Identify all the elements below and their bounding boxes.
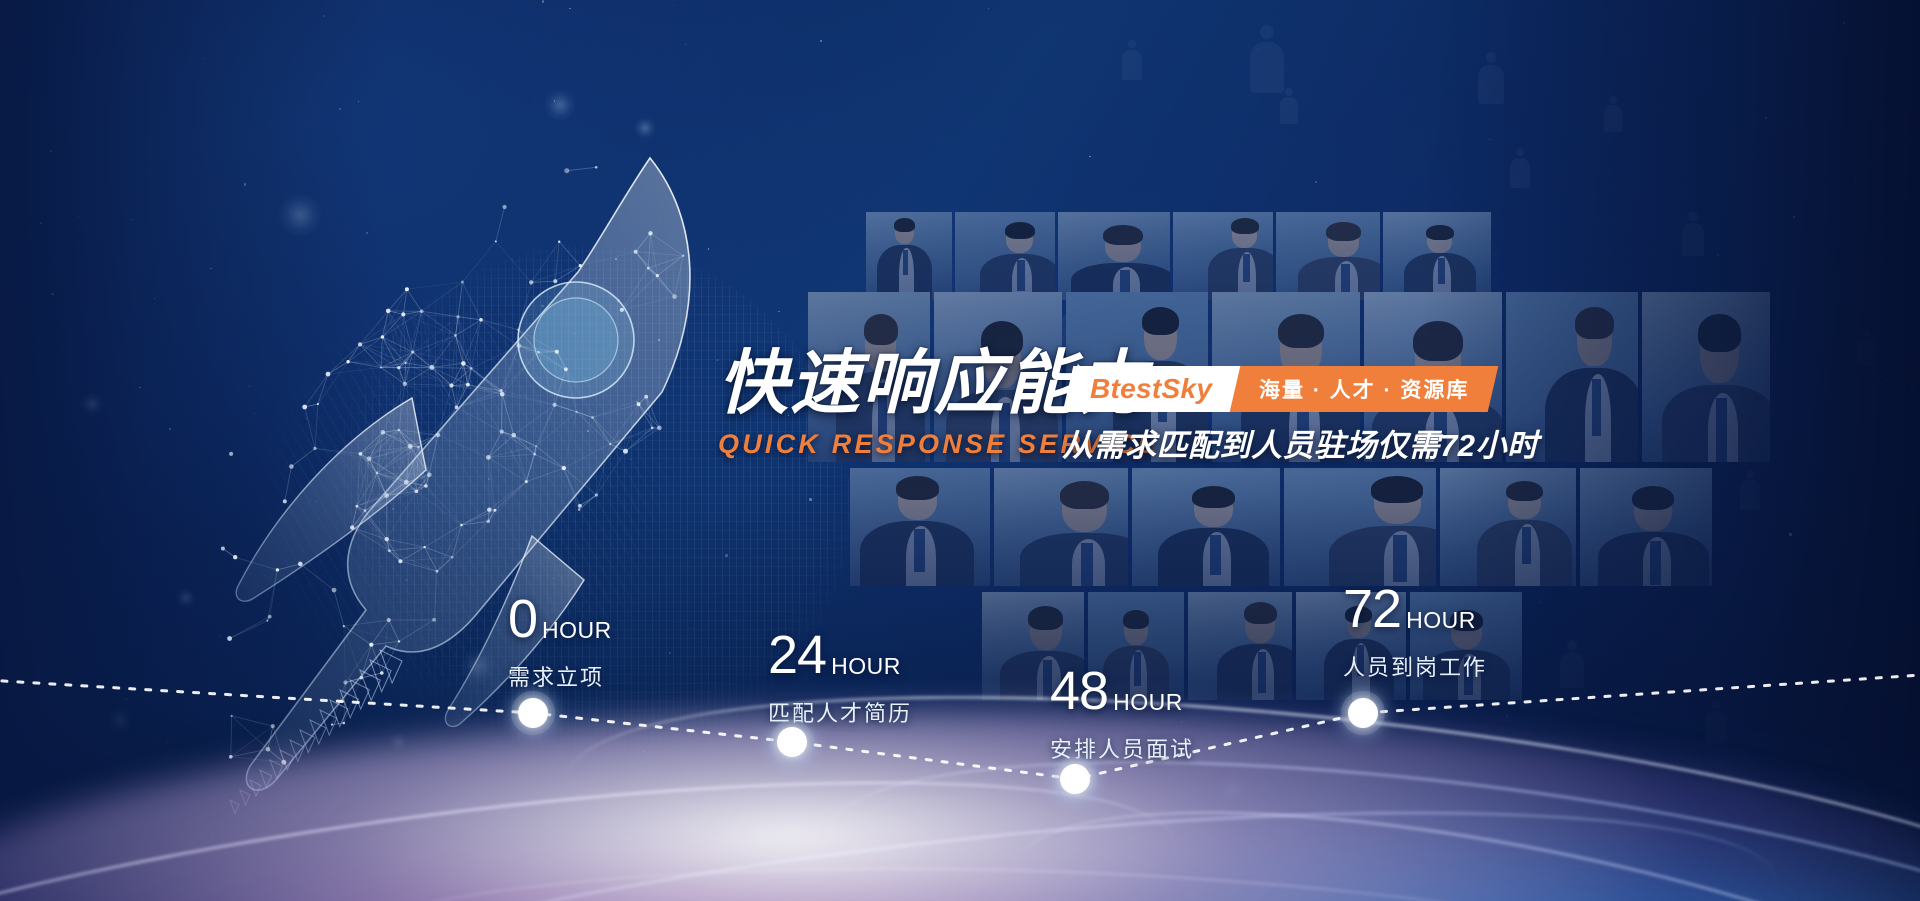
timeline-step-number: 72: [1343, 582, 1401, 636]
timeline-step-unit: HOUR: [1113, 691, 1183, 718]
timeline-node-dot: [1348, 698, 1378, 728]
timeline-node[interactable]: [511, 691, 555, 735]
timeline-step-unit: HOUR: [542, 619, 612, 646]
timeline-step-number: 24: [768, 628, 826, 682]
timeline-step-number: 48: [1050, 664, 1108, 718]
hero-banner: 快速响应能力 QUICK RESPONSE SERVICE BtestSky 海…: [0, 0, 1920, 901]
timeline-step: 48 HOUR 安排人员面试: [1050, 664, 1194, 764]
timeline-step-hours: 72 HOUR: [1343, 582, 1487, 636]
timeline-step-hours: 24 HOUR: [768, 628, 912, 682]
timeline-step-number: 0: [508, 592, 537, 646]
timeline-step-hours: 48 HOUR: [1050, 664, 1194, 718]
timeline-step-hours: 0 HOUR: [508, 592, 612, 646]
timeline-node[interactable]: [1053, 757, 1097, 801]
timeline-node[interactable]: [1341, 691, 1385, 735]
timeline-step-label: 人员到岗工作: [1343, 650, 1487, 682]
timeline-step-label: 需求立项: [508, 660, 612, 692]
timeline-step: 0 HOUR 需求立项: [508, 592, 612, 692]
timeline-step-unit: HOUR: [831, 655, 901, 682]
timeline-step-unit: HOUR: [1406, 609, 1476, 636]
timeline-step: 72 HOUR 人员到岗工作: [1343, 582, 1487, 682]
timeline-node-dot: [1060, 764, 1090, 794]
timeline-node-dot: [518, 698, 548, 728]
timeline-step: 24 HOUR 匹配人才简历: [768, 628, 912, 728]
timeline-node[interactable]: [770, 720, 814, 764]
timeline-node-dot: [777, 727, 807, 757]
process-timeline: 0 HOUR 需求立项 24 HOUR 匹配人才简历 48 HOUR 安排人员面…: [0, 0, 1920, 901]
